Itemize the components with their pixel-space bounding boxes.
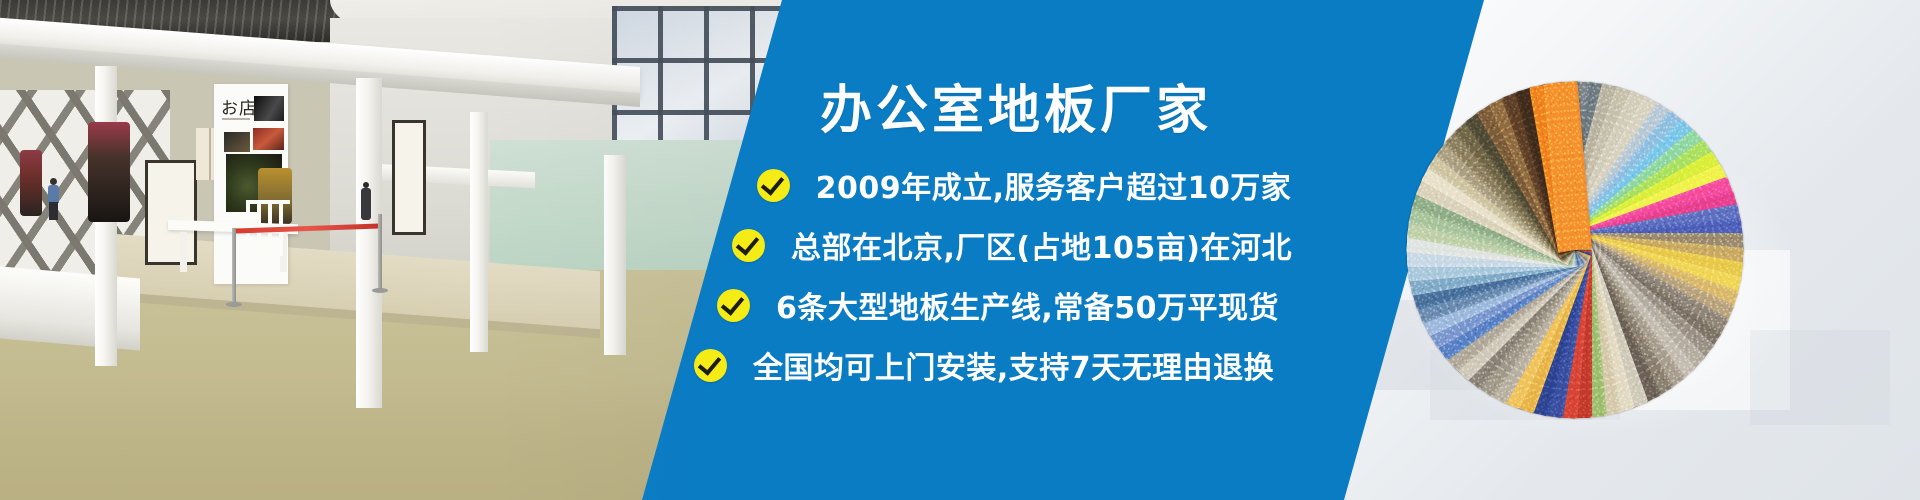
list-item-label: 总部在北京,厂区(占地105亩)在河北 bbox=[791, 223, 1292, 267]
promo-banner: お店 bbox=[0, 0, 1920, 500]
list-item-label: 2009年成立,服务客户超过10万家 bbox=[816, 163, 1292, 207]
check-circle-icon bbox=[757, 169, 790, 202]
check-circle-icon bbox=[694, 349, 727, 382]
check-circle-icon bbox=[732, 229, 765, 262]
check-circle-icon bbox=[717, 289, 750, 322]
list-item-label: 全国均可上门安装,支持7天无理由退换 bbox=[753, 343, 1274, 387]
list-item-label: 6条大型地板生产线,常备50万平现货 bbox=[776, 283, 1279, 327]
